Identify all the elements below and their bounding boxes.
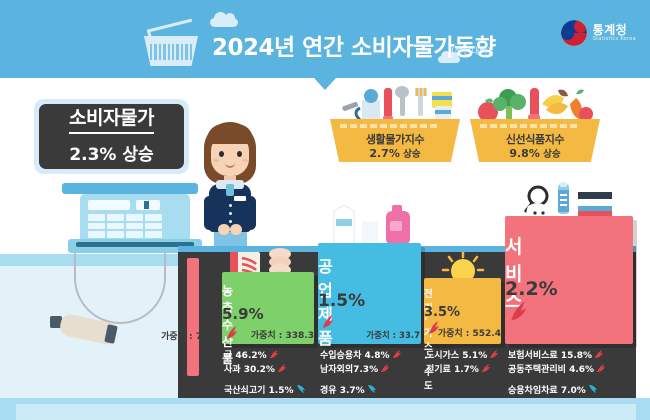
arrow-up-icon: [596, 363, 605, 373]
arrow-up-icon: [508, 300, 528, 322]
arrow-down-icon: [588, 384, 597, 394]
arrow-down-icon: [296, 384, 305, 394]
logo-label-ko: 통계청: [593, 24, 636, 37]
item-row: 수입승용차 4.8%: [320, 349, 401, 363]
infographic-root: { "header": { "title": "2024년 연간 소비자물가동향…: [0, 0, 650, 420]
item-row: 전기료 1.7%: [426, 363, 498, 377]
category-weight: 가중치 : 552.4: [438, 326, 501, 339]
arrow-up-icon: [392, 349, 401, 359]
shopping-basket-icon: [140, 24, 202, 66]
page-header: 2024년 연간 소비자물가동향 (전년대비) 통계청 Statistics K…: [0, 0, 650, 78]
item-row: 국산쇠고기 1.5%: [224, 384, 305, 398]
item-row: 공동주택관리비 4.6%: [508, 363, 605, 377]
basket-rate: 2.7% 상승: [330, 146, 460, 160]
cpi-value: 2.3% 상승: [69, 140, 153, 165]
logo-label-en: Statistics Korea: [593, 37, 636, 42]
page-subtitle: (전년대비): [451, 44, 491, 57]
item-row: 도시가스 5.1%: [426, 349, 498, 363]
cpi-label: 소비자물가: [69, 108, 154, 135]
floor-highlight: [16, 404, 636, 420]
taegeuk-icon: [561, 20, 587, 46]
item-row: 보험서비스료 15.8%: [508, 349, 605, 363]
item-row: 귤 46.2%: [224, 349, 305, 363]
item-row: 사과 30.2%: [224, 363, 305, 377]
basket-card-fresh-food-index: 신선식품지수 9.8% 상승: [470, 86, 600, 162]
category-weight: 가중치 : 338.3: [251, 328, 314, 341]
basket-title: 신선식품지수: [470, 131, 600, 147]
arrow-up-icon: [225, 325, 238, 340]
arrow-up-icon: [277, 363, 286, 373]
item-row: 승용차임차료 7.0%: [508, 384, 605, 398]
arrow-up-icon: [269, 349, 278, 359]
category-weight: 가중치 : 33.7: [366, 329, 420, 341]
category-items-utilities: 도시가스 5.1% 전기료 1.7%: [426, 349, 498, 377]
industrial-goods-icons: [324, 203, 418, 245]
counter-divider: [187, 258, 199, 376]
basket-rate: 9.8% 상승: [470, 146, 600, 160]
cloud-icon: [210, 18, 238, 27]
category-weight: 가중치 : 75.6: [161, 329, 218, 342]
basket-title: 생활물가지수: [330, 131, 460, 147]
basket-card-living-price-index: 생활물가지수 2.7% 상승: [330, 86, 460, 162]
statistics-korea-logo: 통계청 Statistics Korea: [561, 17, 636, 49]
arrow-up-icon: [380, 363, 389, 373]
cash-register-icon: [60, 183, 200, 255]
arrow-up-icon: [321, 314, 334, 329]
item-row: 남자외의7.3%: [320, 363, 401, 377]
cashier-person-icon: [196, 118, 264, 250]
item-row: 경유 3.7%: [320, 384, 401, 398]
arrow-down-icon: [367, 384, 376, 394]
arrow-up-icon: [489, 349, 498, 359]
cpi-summary-panel: 소비자물가 2.3% 상승: [34, 99, 189, 174]
arrow-up-icon: [481, 363, 490, 373]
arrow-up-icon: [594, 349, 603, 359]
